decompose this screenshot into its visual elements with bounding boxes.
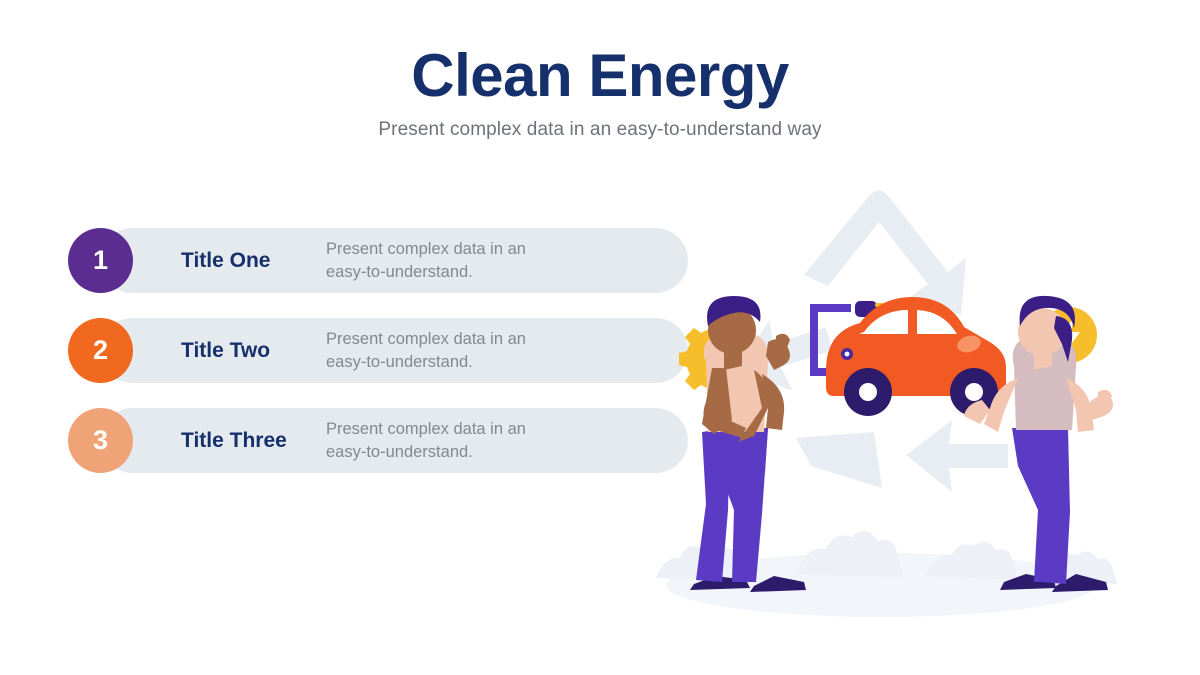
list-item-description: Present complex data in an easy-to-under… xyxy=(326,228,616,293)
page-title: Clean Energy xyxy=(0,44,1200,107)
list-item-description: Present complex data in an easy-to-under… xyxy=(326,318,616,383)
list-item-title: Title Two xyxy=(181,318,326,383)
list-item[interactable]: 2 Title Two Present complex data in an e… xyxy=(68,318,628,383)
list-item-description-line-1: Present complex data in an xyxy=(326,328,616,351)
list-item-number-badge: 1 xyxy=(68,228,133,293)
list-item-description-line-2: easy-to-understand. xyxy=(326,351,616,374)
slide-root: Clean Energy Present complex data in an … xyxy=(0,0,1200,675)
clean-energy-illustration xyxy=(636,170,1126,630)
list-item-number: 3 xyxy=(93,425,108,456)
arrow-bottom-left xyxy=(796,432,882,488)
list-item-number-badge: 3 xyxy=(68,408,133,473)
list-item-description-line-2: easy-to-understand. xyxy=(326,261,616,284)
list-item-description-line-1: Present complex data in an xyxy=(326,418,616,441)
page-subtitle: Present complex data in an easy-to-under… xyxy=(0,119,1200,141)
list-item-number: 2 xyxy=(93,335,108,366)
list-item-description-line-1: Present complex data in an xyxy=(326,238,616,261)
arrow-top-right xyxy=(804,190,966,315)
list-item[interactable]: 1 Title One Present complex data in an e… xyxy=(68,228,628,293)
list-item-title: Title Three xyxy=(181,408,326,473)
list-item-description: Present complex data in an easy-to-under… xyxy=(326,408,616,473)
list-item-number: 1 xyxy=(93,245,108,276)
feature-list: 1 Title One Present complex data in an e… xyxy=(68,228,628,498)
list-item-title: Title One xyxy=(181,228,326,293)
list-item-description-line-2: easy-to-understand. xyxy=(326,441,616,464)
list-item-number-badge: 2 xyxy=(68,318,133,383)
list-item[interactable]: 3 Title Three Present complex data in an… xyxy=(68,408,628,473)
electric-car-icon xyxy=(826,297,1006,416)
slide-header: Clean Energy Present complex data in an … xyxy=(0,44,1200,141)
arrow-bottom-right-pointing-left xyxy=(906,420,1008,492)
